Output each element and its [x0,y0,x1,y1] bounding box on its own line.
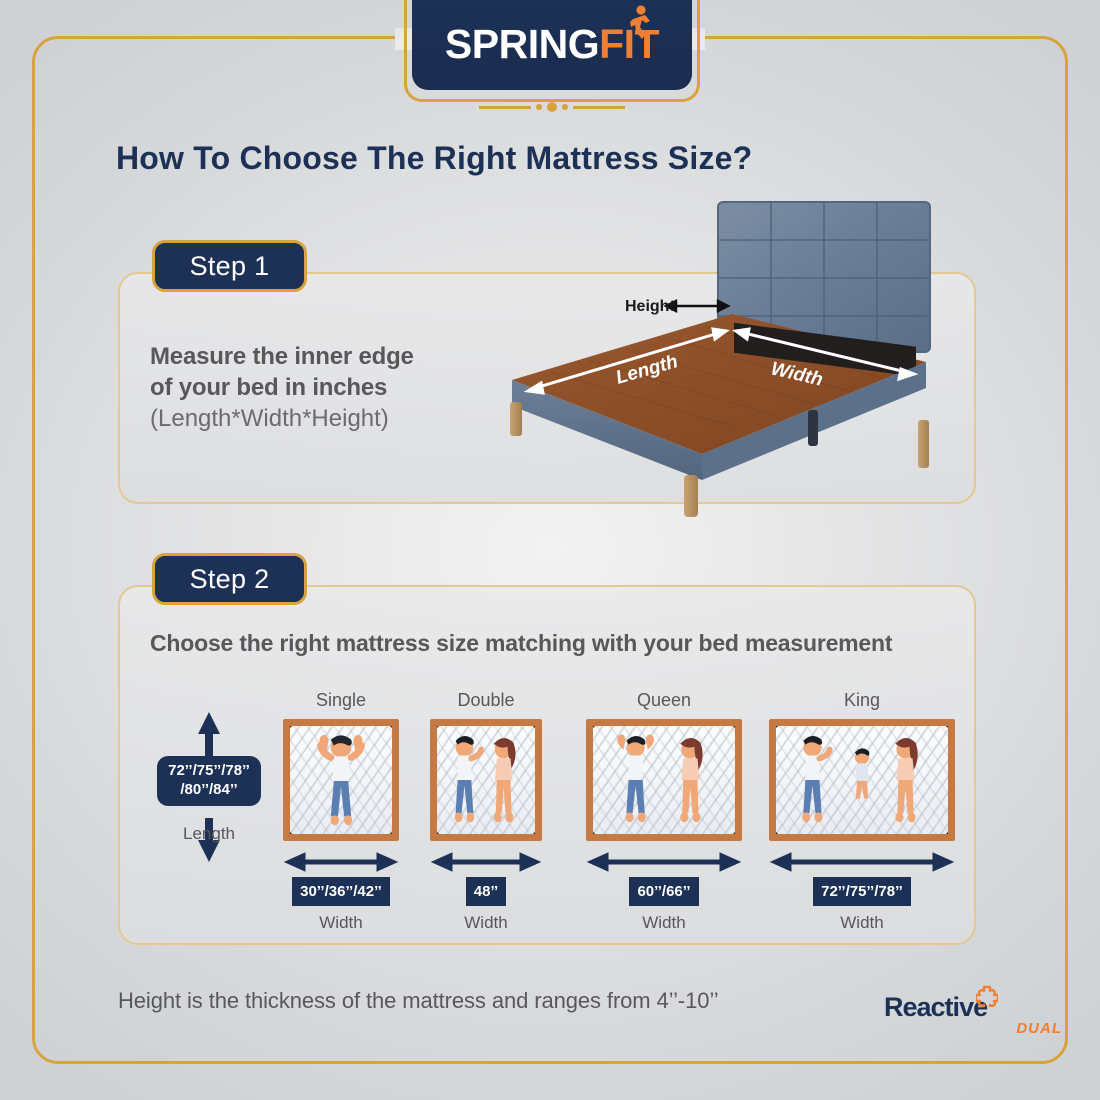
mattress-king [769,719,955,841]
size-name-queen: Queen [586,690,742,711]
length-caption: Length [157,824,261,844]
size-column-single: Single 30’’/36’’/42’’ Width [283,690,399,933]
reactive-dual-logo: Reactive DUAL [884,994,1064,1042]
divider-bar-right [573,106,625,109]
reactive-wordmark: Reactive [884,994,1064,1021]
footer-note: Height is the thickness of the mattress … [118,988,719,1014]
width-value-queen: 60’’/66’’ [629,877,698,906]
width-value-king: 72’’/75’’/78’’ [813,877,911,906]
logo-dot-divider [404,99,700,115]
height-label: Height [625,298,675,316]
width-arrow-double [430,851,542,877]
person-figure-female [494,738,516,822]
width-arrow-queen [586,851,742,877]
width-arrow-single [283,851,399,877]
size-column-double: Double 48’’ Width [430,690,542,933]
step-1-badge: Step 1 [152,240,307,292]
length-gauge: 72’’/75’’/78’’ /80’’/84’’ Length [157,712,277,862]
page-title-bold: Right Mattress Size? [434,140,753,176]
cross-puzzle-icon [976,985,998,1007]
height-dimension-arrow [666,301,728,311]
step-1-description: Measure the inner edge of your bed in in… [150,342,480,435]
person-figure [319,735,362,825]
logo-navy-panel: SPRINGFIT [412,0,692,90]
person-figure-baby [855,748,869,798]
logo-text: SPRINGFIT [445,21,659,68]
mattress-queen [586,719,742,841]
page-title-normal: How To Choose The [116,140,434,176]
width-caption-double: Width [430,913,542,933]
step-1-sub-line: (Length*Width*Height) [150,403,480,434]
width-caption-king: Width [769,913,955,933]
divider-dot-small-left [536,104,542,110]
width-arrow-king [769,851,955,877]
divider-bar-left [479,106,531,109]
step-2-badge: Step 2 [152,553,307,605]
divider-dot-large [547,102,557,112]
step-1-line-1: Measure the inner edge [150,342,480,373]
person-figure-male [802,736,829,822]
width-caption-single: Width [283,913,399,933]
width-value-double: 48’’ [466,877,506,906]
divider-dot-small-right [562,104,568,110]
mattress-single [283,719,399,841]
length-value-badge: 72’’/75’’/78’’ /80’’/84’’ [157,756,261,806]
person-figure-female [895,738,917,822]
reactive-word-head: React [884,992,953,1022]
step-1-line-2: of your bed in inches [150,373,480,404]
length-arrow-up [198,712,220,758]
length-value-line-2: /80’’/84’’ [161,781,257,800]
step-2-description: Choose the right mattress size matching … [150,628,910,660]
reactive-dual-subtext: DUAL [1016,1020,1062,1037]
person-figure-male [617,734,654,822]
bed-leg-rear [918,420,929,468]
bed-leg-left [510,402,522,436]
person-figure-male [455,736,481,822]
length-value-line-1: 72’’/75’’/78’’ [161,762,257,781]
logo-word-spring: SPRING [445,21,599,67]
size-name-single: Single [283,690,399,711]
size-column-king: King [769,690,955,933]
width-caption-queen: Width [586,913,742,933]
runner-figure-icon [629,5,651,43]
size-column-queen: Queen 60’’/66’’ Widt [586,690,742,933]
width-value-single: 30’’/36’’/42’’ [292,877,390,906]
page-title: How To Choose The Right Mattress Size? [116,140,752,177]
bed-illustration: Length Width Height [470,192,970,522]
bed-leg-front [684,475,698,517]
brand-logo-banner: SPRINGFIT [404,0,700,118]
mattress-double [430,719,542,841]
size-name-double: Double [430,690,542,711]
size-name-king: King [769,690,955,711]
bed-leg-center [808,410,818,446]
person-figure-female [680,738,702,822]
